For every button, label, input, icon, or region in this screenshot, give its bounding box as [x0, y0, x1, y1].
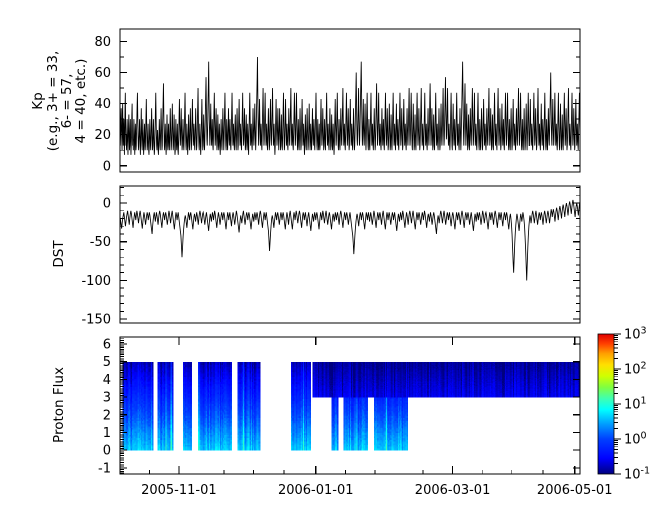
flux-ytick-label: 1 [103, 426, 111, 441]
dst-plot-frame [120, 186, 580, 323]
x-axis-ticklabels: 2005-11-012006-01-012006-03-012006-05-01 [141, 483, 612, 498]
flux-y-ticklabels: -10123456 [98, 338, 111, 477]
dst-y-axis-label: DST [51, 240, 67, 268]
dst-ytick-label: -50 [90, 235, 111, 250]
kp-ytick-label: 20 [94, 128, 111, 143]
dst-ytick-label: -150 [81, 313, 111, 328]
flux-data-area [122, 362, 580, 451]
dst-data-area [120, 200, 580, 281]
kp-ytick-label: 0 [103, 159, 111, 174]
x-tick-label: 2006-01-01 [278, 483, 354, 498]
flux-ytick-label: 2 [103, 408, 111, 423]
kp-ytick-label: 40 [94, 97, 111, 112]
panel-flux: -10123456 Proton Flux 2005-11-012006-01-… [51, 337, 612, 498]
colorbar-ticks [614, 334, 621, 474]
dst-ytick-label: -100 [81, 274, 111, 289]
kp-y-axis-label: Kp (e.g., 3+ = 33, 6- = 57, 4 = 40, etc.… [30, 51, 89, 152]
flux-ytick-label: 3 [103, 391, 111, 406]
kp-y-ticklabels: 020406080 [94, 35, 111, 174]
dst-ytick-label: 0 [103, 197, 111, 212]
dst-y-ticklabels: 0-50-100-150 [81, 197, 111, 328]
plot-svg: 020406080 Kp (e.g., 3+ = 33, 6- = 57, 4 … [0, 0, 665, 523]
colorbar-tick-label: 101 [624, 396, 647, 413]
flux-ytick-label: -1 [98, 461, 111, 476]
colorbar-tick-label: 10-1 [624, 466, 650, 483]
kp-ytick-label: 80 [94, 35, 111, 50]
flux-ytick-label: 5 [103, 355, 111, 370]
x-tick-label: 2006-03-01 [415, 483, 491, 498]
dst-y-ticks [120, 188, 580, 320]
kp-label-line4: 4 = 40, etc.) [73, 59, 89, 144]
x-tick-label: 2006-05-01 [537, 483, 613, 498]
colorbar-tick-label: 100 [624, 431, 647, 448]
colorbar-ticklabels: 10310210110010-1 [624, 326, 650, 483]
kp-ytick-label: 60 [94, 66, 111, 81]
panel-kp: 020406080 Kp (e.g., 3+ = 33, 6- = 57, 4 … [30, 29, 580, 174]
flux-ytick-label: 4 [103, 373, 111, 388]
panel-dst: 0-50-100-150 DST [51, 186, 580, 328]
dst-series-line [120, 200, 580, 281]
colorbar-gradient [598, 334, 614, 474]
figure-root: 020406080 Kp (e.g., 3+ = 33, 6- = 57, 4 … [0, 0, 665, 523]
flux-y-axis-label: Proton Flux [51, 367, 67, 443]
flux-heatmap-blocks [122, 362, 580, 451]
colorbar-group: 10310210110010-1 [598, 326, 650, 483]
colorbar-tick-label: 103 [624, 326, 647, 343]
kp-series-line [120, 57, 580, 155]
flux-ytick-label: 6 [103, 338, 111, 353]
colorbar-tick-label: 102 [624, 361, 647, 378]
kp-label-line1: Kp [30, 92, 46, 109]
x-tick-label: 2005-11-01 [141, 483, 217, 498]
flux-ytick-label: 0 [103, 444, 111, 459]
kp-data-area [120, 57, 580, 155]
